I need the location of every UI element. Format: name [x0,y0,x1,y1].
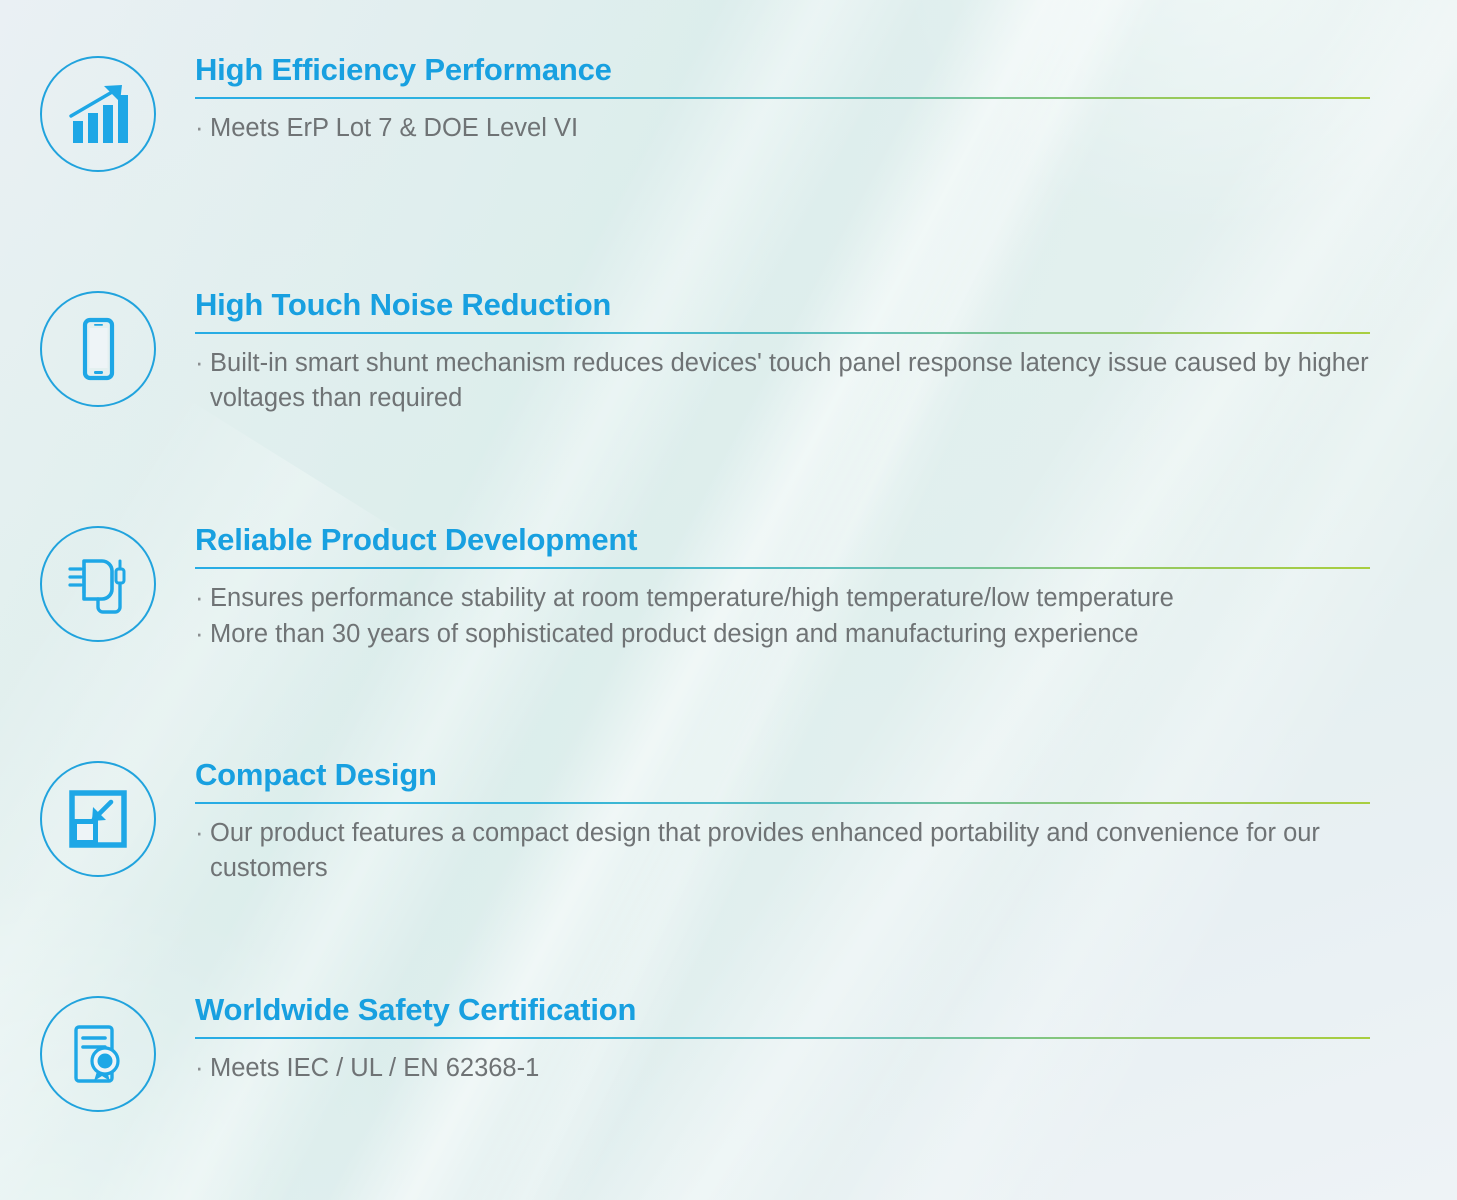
compact-resize-icon [40,761,156,877]
feature-icon-container [0,992,195,1112]
feature-title: High Efficiency Performance [195,52,1397,88]
feature-bullets: · Meets ErP Lot 7 & DOE Level VI [195,111,1397,145]
smartphone-icon [40,291,156,407]
feature-body: Reliable Product Development · Ensures p… [195,522,1457,651]
feature-divider [195,97,1370,100]
power-adapter-icon [40,526,156,642]
feature-bullets: · Meets IEC / UL / EN 62368-1 [195,1051,1397,1085]
feature-icon-container [0,522,195,642]
feature-body: Compact Design · Our product features a … [195,757,1457,885]
bar-chart-growth-icon [40,56,156,172]
feature-icon-container [0,287,195,407]
bullet-marker: · [195,346,210,415]
feature-row-high-touch-noise-reduction: High Touch Noise Reduction · Built-in sm… [0,287,1457,415]
feature-title: Compact Design [195,757,1397,793]
bullet-marker: · [195,581,210,615]
bullet-text: Ensures performance stability at room te… [210,581,1397,615]
feature-icon-container [0,52,195,172]
bullet-marker: · [195,1051,210,1085]
bullet-item: · Meets ErP Lot 7 & DOE Level VI [195,111,1397,145]
bullet-marker: · [195,111,210,145]
feature-title: High Touch Noise Reduction [195,287,1397,323]
bullet-item: · Built-in smart shunt mechanism reduces… [195,346,1397,415]
feature-icon-container [0,757,195,877]
feature-body: High Touch Noise Reduction · Built-in sm… [195,287,1457,415]
feature-divider [195,567,1370,570]
feature-bullets: · Built-in smart shunt mechanism reduces… [195,346,1397,415]
bullet-text: Built-in smart shunt mechanism reduces d… [210,346,1397,415]
bullet-text: Meets ErP Lot 7 & DOE Level VI [210,111,1397,145]
bullet-item: · More than 30 years of sophisticated pr… [195,617,1397,651]
bullet-marker: · [195,617,210,651]
feature-row-compact-design: Compact Design · Our product features a … [0,757,1457,885]
bullet-item: · Meets IEC / UL / EN 62368-1 [195,1051,1397,1085]
feature-divider [195,332,1370,335]
bullet-item: · Our product features a compact design … [195,816,1397,885]
certificate-award-icon [40,996,156,1112]
bullet-text: Meets IEC / UL / EN 62368-1 [210,1051,1397,1085]
feature-title: Worldwide Safety Certification [195,992,1397,1028]
feature-body: High Efficiency Performance · Meets ErP … [195,52,1457,146]
feature-divider [195,802,1370,805]
feature-bullets: · Ensures performance stability at room … [195,581,1397,651]
feature-row-worldwide-safety-certification: Worldwide Safety Certification · Meets I… [0,992,1457,1112]
feature-title: Reliable Product Development [195,522,1397,558]
feature-body: Worldwide Safety Certification · Meets I… [195,992,1457,1086]
bullet-text: Our product features a compact design th… [210,816,1397,885]
bullet-marker: · [195,816,210,885]
feature-row-high-efficiency-performance: High Efficiency Performance · Meets ErP … [0,52,1457,172]
bullet-text: More than 30 years of sophisticated prod… [210,617,1397,651]
feature-bullets: · Our product features a compact design … [195,816,1397,885]
feature-row-reliable-product-development: Reliable Product Development · Ensures p… [0,522,1457,651]
bullet-item: · Ensures performance stability at room … [195,581,1397,615]
feature-list-page: High Efficiency Performance · Meets ErP … [0,0,1457,1200]
feature-divider [195,1037,1370,1040]
